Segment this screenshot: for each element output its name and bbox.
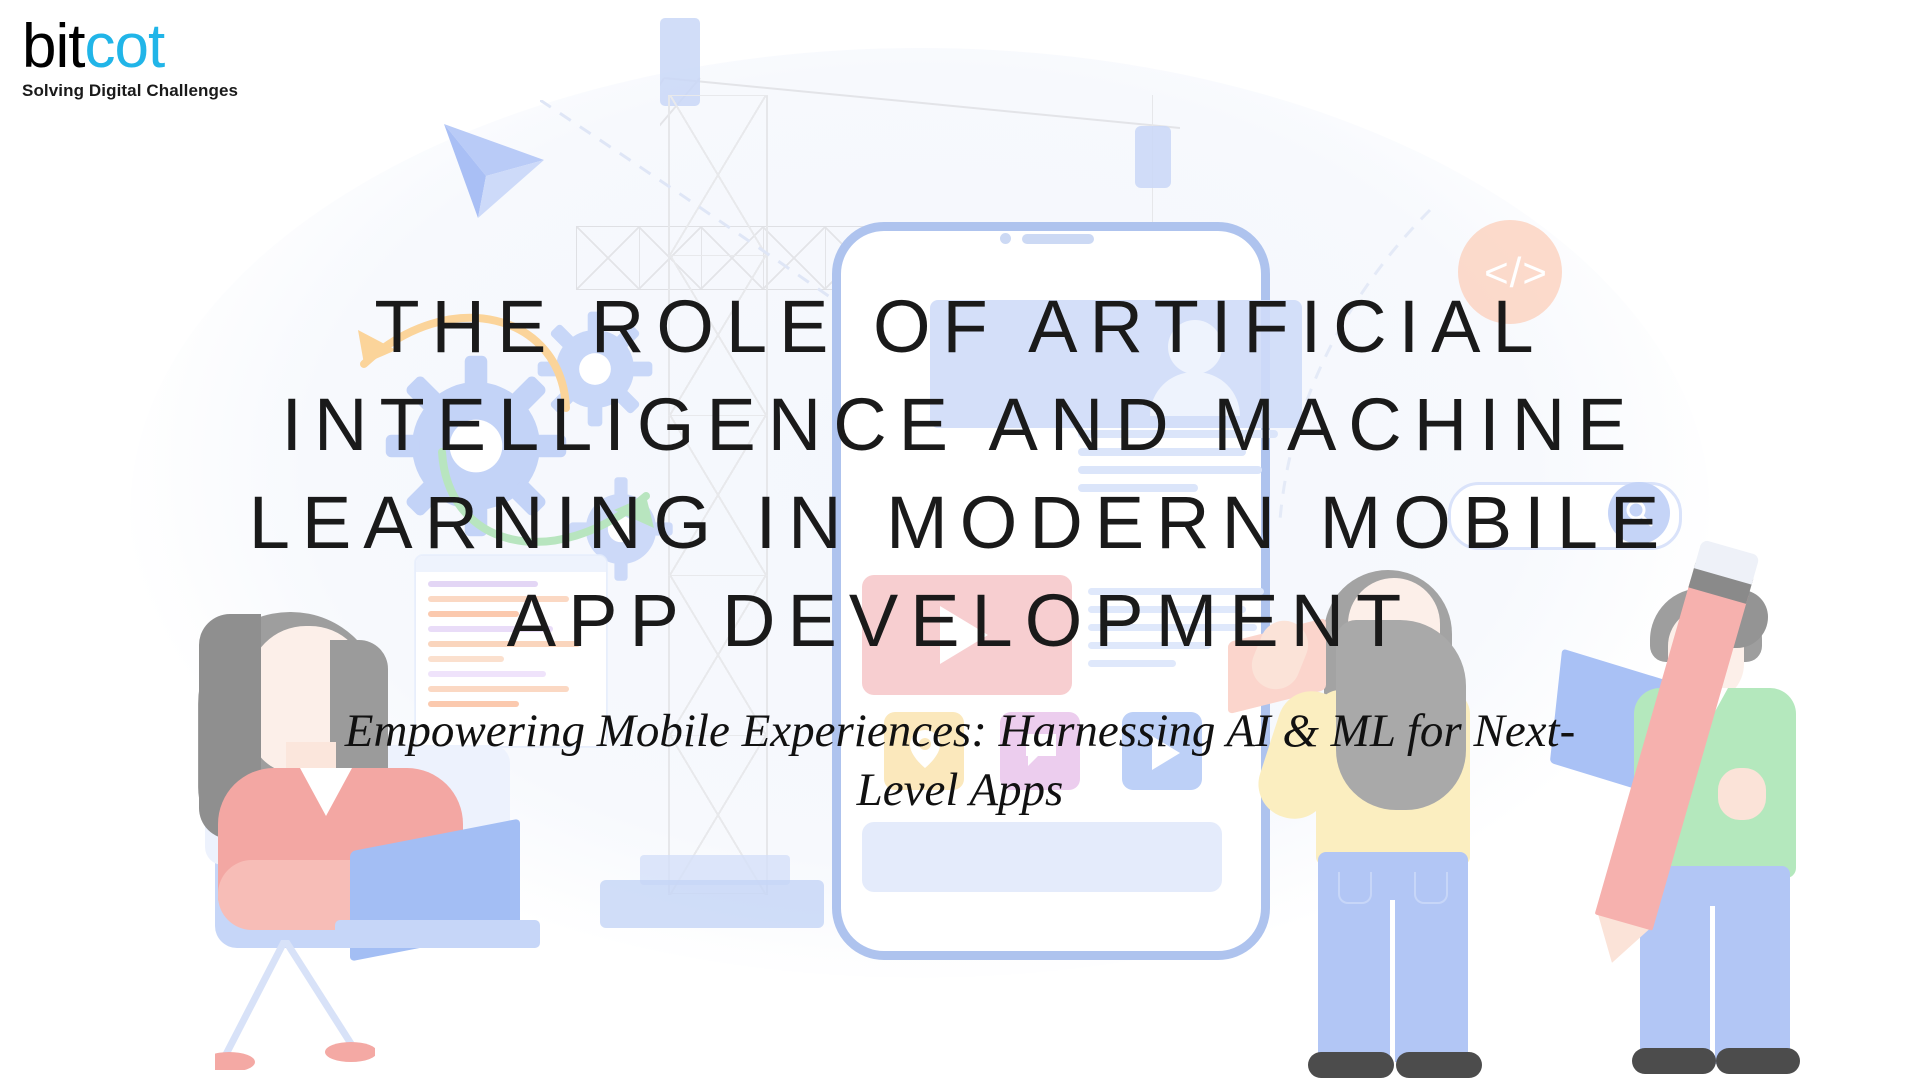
brand-logo[interactable]: bitcot Solving Digital Challenges — [22, 16, 238, 101]
page-subtitle: Empowering Mobile Experiences: Harnessin… — [300, 702, 1620, 820]
logo-wordmark: bitcot — [22, 16, 238, 78]
page-title: The Role of Artificial Intelligence and … — [180, 278, 1740, 670]
logo-bit-text: bit — [22, 12, 84, 81]
presentation-slide: </> — [0, 0, 1920, 1080]
logo-tagline: Solving Digital Challenges — [22, 81, 238, 101]
logo-cot-text: cot — [84, 12, 164, 81]
slide-text-layer: The Role of Artificial Intelligence and … — [0, 0, 1920, 1080]
